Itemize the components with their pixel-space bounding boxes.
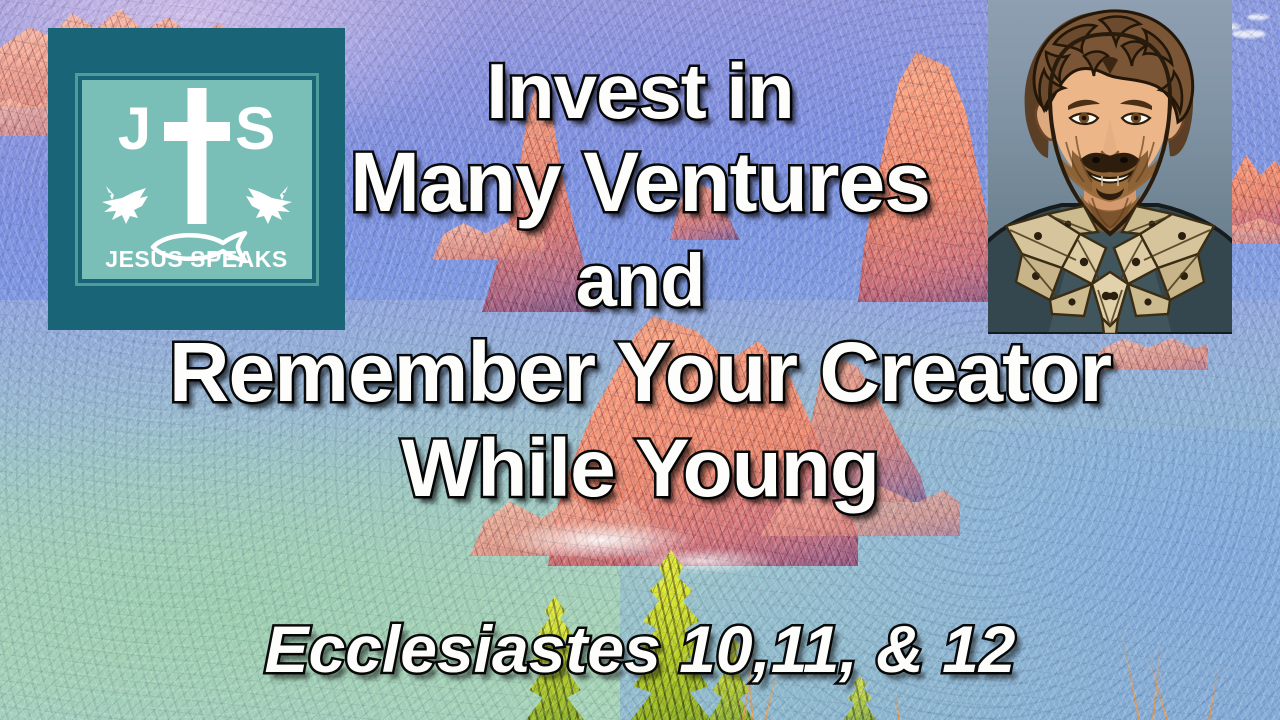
logo-letter-s: S	[235, 99, 275, 159]
logo-brand-name: JESUS SPEAKS	[82, 246, 312, 273]
logo-letter-j: J	[118, 99, 151, 159]
surf-foam	[628, 548, 778, 574]
cloud-wisp	[1232, 30, 1266, 38]
dove-icon	[242, 182, 294, 228]
thumbnail-canvas: J S	[0, 0, 1280, 720]
king-solomon-portrait	[988, 0, 1232, 334]
jesus-speaks-logo[interactable]: J S	[48, 28, 345, 330]
cloud-wisp	[1247, 14, 1269, 20]
logo-inner-border: J S	[75, 73, 319, 286]
cross-icon	[159, 88, 235, 224]
logo-panel: J S	[82, 80, 312, 279]
dove-icon	[100, 182, 152, 228]
